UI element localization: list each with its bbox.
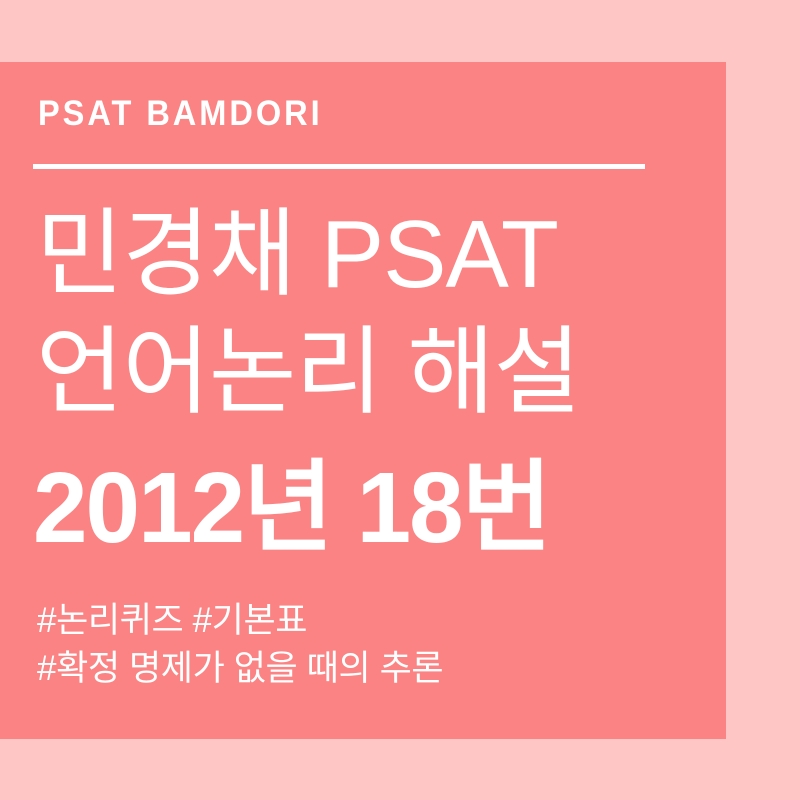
poster-card: PSAT BAMDORI 민경채 PSAT 언어논리 해설 2012년 18번 … bbox=[0, 0, 800, 800]
hashtag-line-2: #확정 명제가 없을 때의 추론 bbox=[37, 645, 443, 693]
page-title-line-1: 민경채 PSAT bbox=[36, 196, 709, 314]
page-title: 민경채 PSAT 언어논리 해설 bbox=[36, 196, 716, 432]
brand-eyebrow-label: PSAT BAMDORI bbox=[38, 96, 323, 131]
hashtag-list: #논리퀴즈 #기본표 #확정 명제가 없을 때의 추론 bbox=[37, 597, 443, 693]
hashtag-line-1: #논리퀴즈 #기본표 bbox=[37, 597, 443, 645]
subject-year-question-label: 2012년 18번 bbox=[33, 452, 550, 564]
header-divider-rule bbox=[33, 164, 645, 169]
page-title-line-2: 언어논리 해설 bbox=[36, 314, 709, 432]
